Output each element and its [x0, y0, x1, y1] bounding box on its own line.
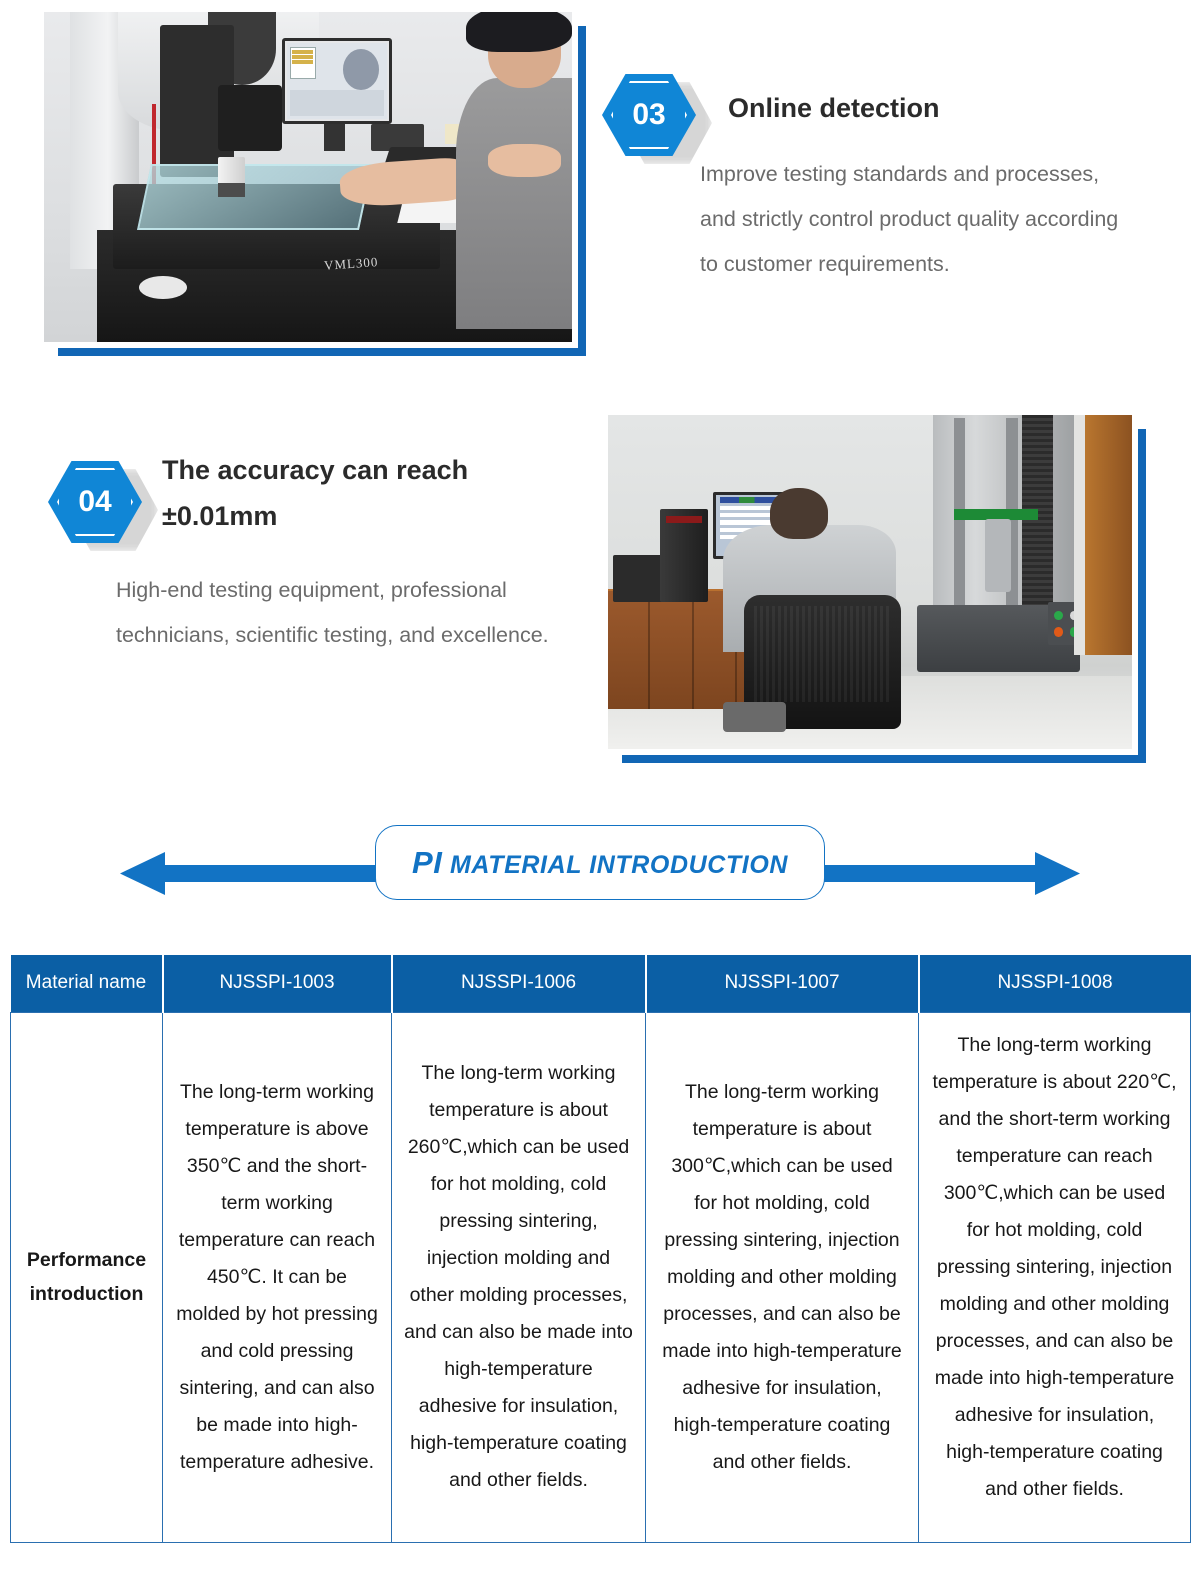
cell-njsspi-1003: The long-term working temperature is abo… [163, 1012, 392, 1542]
badge-number: 04 [54, 455, 136, 549]
measuring-monitor [282, 38, 393, 124]
section-body-04: High-end testing equipment, professional… [116, 568, 596, 658]
operator-cap [466, 12, 572, 52]
table-header-njsspi-1006: NJSSPI-1006 [392, 955, 646, 1012]
wooden-door [1085, 415, 1132, 655]
door-frame [1074, 415, 1084, 655]
tensile-testing-photo [608, 415, 1132, 749]
cell-njsspi-1007: The long-term working temperature is abo… [646, 1012, 919, 1542]
screen-workpiece [343, 49, 379, 90]
badge-03: 03 [608, 68, 690, 162]
row-label-performance-introduction: Performance introduction [11, 1012, 163, 1542]
table-header-row: Material name NJSSPI-1003 NJSSPI-1006 NJ… [11, 955, 1191, 1012]
online-detection-photo: VML300 [44, 12, 572, 342]
operator-right-hand [488, 144, 562, 177]
printer [613, 555, 665, 602]
cell-njsspi-1006: The long-term working temperature is abo… [392, 1012, 646, 1542]
sample-bottle [218, 157, 244, 197]
banner-pill: PI MATERIAL INTRODUCTION [375, 825, 825, 900]
specimen-grip [985, 519, 1011, 592]
table-header-njsspi-1007: NJSSPI-1007 [646, 955, 919, 1012]
badge-04: 04 [54, 455, 136, 549]
cell-njsspi-1008: The long-term working temperature is abo… [919, 1012, 1191, 1542]
banner-title: PI MATERIAL INTRODUCTION [412, 845, 788, 881]
machine-column-left [954, 418, 966, 625]
table-header-material-name: Material name [11, 955, 163, 1012]
machine-optics [218, 85, 281, 151]
monitor-stand [324, 124, 345, 150]
screen-panel [290, 47, 316, 79]
arrow-left-icon [120, 852, 165, 895]
table-header-njsspi-1003: NJSSPI-1003 [163, 955, 392, 1012]
section-title-03: Online detection [728, 85, 1148, 131]
section-title-04: The accuracy can reach ±0.01mm [162, 447, 582, 539]
chair-base [723, 702, 786, 732]
technician-head [770, 488, 828, 538]
monitor-screen [287, 43, 388, 119]
table-row: Performance introduction The long-term w… [11, 1012, 1191, 1542]
badge-number: 03 [608, 68, 690, 162]
glass-plate [137, 164, 373, 230]
screen-lower-panel [290, 90, 385, 117]
computer-tower [660, 509, 707, 603]
operator-body [456, 78, 572, 329]
banner-title-rest: MATERIAL INTRODUCTION [442, 851, 788, 879]
banner-title-lead: PI [412, 845, 443, 880]
table-header-njsspi-1008: NJSSPI-1008 [919, 955, 1191, 1012]
pi-material-table: Material name NJSSPI-1003 NJSSPI-1006 NJ… [10, 955, 1190, 1543]
arrow-right-icon [1035, 852, 1080, 895]
section-body-03: Improve testing standards and processes,… [700, 152, 1130, 287]
stage-roller [139, 276, 187, 299]
